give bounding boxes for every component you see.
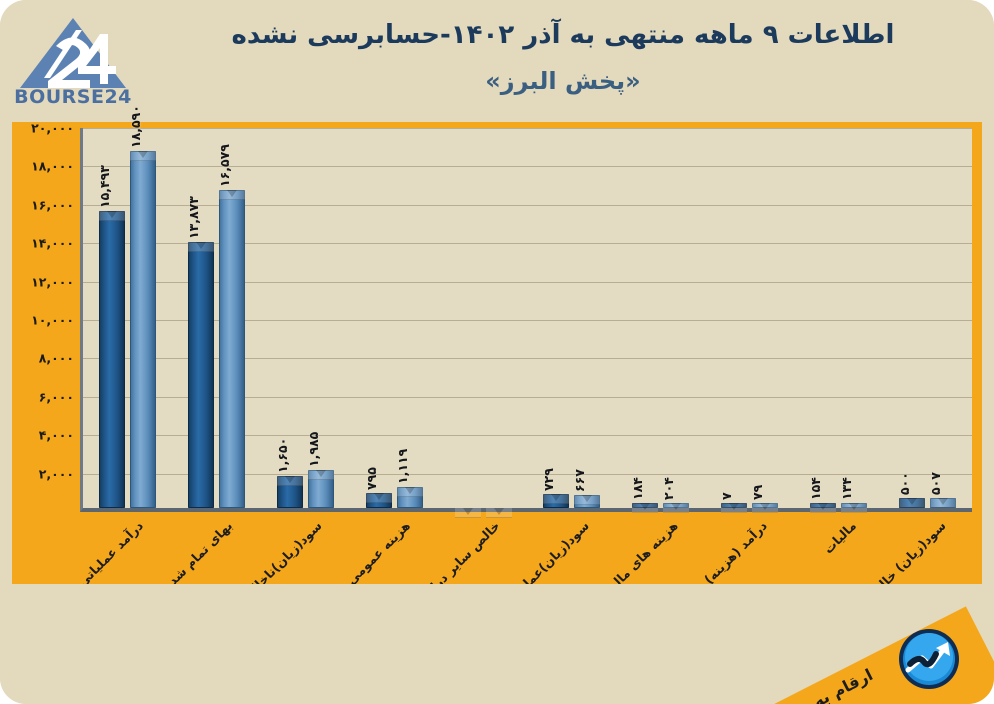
bar-value-label: ۷۲۹ [541, 468, 556, 491]
page-title: اطلاعات ۹ ماهه منتهی به آذر ۱۴۰۲-حسابرسی… [150, 18, 976, 52]
bar-column: ۱,۹۸۵ [308, 470, 334, 508]
bar-group: ۱۸۴۲۰۴ [616, 128, 705, 508]
bar-column: ۱,۶۵۰ [277, 476, 303, 508]
bar-value-label: ۲۰۴ [661, 477, 676, 500]
bar-column: ۱۶,۵۷۹ [219, 190, 245, 508]
bar-value-label: ۱۵۴ [808, 477, 823, 500]
y-axis-tick: ۱۸,۰۰۰ [12, 159, 74, 174]
bar-series-1 [721, 503, 747, 508]
y-axis-tick: ۱۲,۰۰۰ [12, 274, 74, 289]
bar-value-label: ۱۸۴ [630, 477, 645, 500]
bar-group: ۵۰۰۵۰۷ [883, 128, 972, 508]
y-axis-tick: ۲۰,۰۰۰ [12, 121, 74, 136]
bar-series-2 [663, 503, 689, 508]
bar-column: ۲۰۴ [663, 503, 689, 508]
y-axis-tick: ۶,۰۰۰ [12, 389, 74, 404]
bar-column: ۷۹ [752, 503, 778, 508]
chart-card: BOURSE24 اطلاعات ۹ ماهه منتهی به آذر ۱۴۰… [0, 0, 994, 704]
bar-series-2 [574, 495, 600, 508]
bar-value-label: ۱۵,۴۹۳ [97, 165, 112, 208]
bar-series-1 [188, 242, 214, 508]
bar-value-label: ۱۸,۵۹۰ [128, 105, 143, 148]
bar-value-label: ۱,۱۱۹ [395, 448, 410, 483]
bar-series-2 [219, 190, 245, 508]
y-axis: ۲,۰۰۰۴,۰۰۰۶,۰۰۰۸,۰۰۰۱۰,۰۰۰۱۲,۰۰۰۱۴,۰۰۰۱۶… [12, 122, 78, 512]
bar-series-2 [308, 470, 334, 508]
bar-value-label: ۱۳,۸۷۳ [186, 196, 201, 239]
bar-series-1 [810, 503, 836, 508]
bar-column: ۱۸۴ [632, 503, 658, 508]
bar-series-1 [632, 503, 658, 508]
y-axis-tick: ۱۶,۰۰۰ [12, 197, 74, 212]
bar-column: ۱۵۴ [810, 503, 836, 508]
bar-series-1 [899, 498, 925, 508]
x-axis-label: مالیات [821, 518, 860, 557]
bar-column: ۷ [721, 503, 747, 508]
y-axis-tick: ۱۴,۰۰۰ [12, 236, 74, 251]
bar-column: ۵۰۷ [930, 498, 956, 508]
title-block: اطلاعات ۹ ماهه منتهی به آذر ۱۴۰۲-حسابرسی… [150, 18, 976, 96]
bar-group: ۱۵,۴۹۳۱۸,۵۹۰ [83, 128, 172, 508]
bar-column: ۱۵,۴۹۳ [99, 211, 125, 508]
bar-series-1 [543, 494, 569, 508]
x-axis-label: درآمد عملیاتی [74, 518, 146, 590]
bar-value-label: ۷ [719, 492, 734, 500]
bar-series-2 [130, 151, 156, 508]
bar-column: ۶۶۷ [574, 495, 600, 508]
x-axis-labels: درآمد عملیاتیبهای تمام شدهسود(زیان)ناخال… [80, 514, 972, 584]
bar-group: ۷۹۵۱,۱۱۹ [350, 128, 439, 508]
bar-series-2 [752, 503, 778, 508]
bar-series-2 [397, 487, 423, 508]
bar-column: ۵۰۰ [899, 498, 925, 508]
y-axis-tick: ۲,۰۰۰ [12, 466, 74, 481]
bourse24-logo-text: BOURSE24 [14, 86, 132, 108]
bar-series-2 [930, 498, 956, 508]
bar-group: ۱,۶۵۰۱,۹۸۵ [261, 128, 350, 508]
bar-group: ۱۳,۸۷۳۱۶,۵۷۹ [172, 128, 261, 508]
bar-series-2 [841, 503, 867, 508]
y-axis-tick: ۴,۰۰۰ [12, 428, 74, 443]
chart-panel: ۲,۰۰۰۴,۰۰۰۶,۰۰۰۸,۰۰۰۱۰,۰۰۰۱۲,۰۰۰۱۴,۰۰۰۱۶… [12, 122, 982, 584]
bourse24-logo: BOURSE24 [14, 14, 132, 110]
y-axis-tick: ۸,۰۰۰ [12, 351, 74, 366]
bar-value-label: ۵۰۷ [928, 472, 943, 495]
bar-series-1 [277, 476, 303, 508]
bar-column: ۱۸,۵۹۰ [130, 151, 156, 508]
bar-group: ۱۵۴۱۳۴ [794, 128, 883, 508]
x-axis-label: بهای تمام شده [160, 518, 235, 593]
bar-group: ۷۷۹ [705, 128, 794, 508]
bar-group: ۷۲۹۶۶۷ [528, 128, 617, 508]
bar-value-label: ۱,۶۵۰ [275, 438, 290, 473]
bar-value-label: ۷۹ [750, 485, 765, 500]
bar-value-label: ۶۶۷ [572, 469, 587, 492]
bar-series-1 [99, 211, 125, 508]
bar-value-label: ۱,۹۸۵ [306, 432, 321, 467]
bar-value-label: ۱۶,۵۷۹ [217, 144, 232, 187]
chart-header: BOURSE24 اطلاعات ۹ ماهه منتهی به آذر ۱۴۰… [0, 0, 994, 122]
bar-value-label: ۱۳۴ [839, 477, 854, 500]
bar-column: ۱۳۴ [841, 503, 867, 508]
y-axis-tick: ۱۰,۰۰۰ [12, 313, 74, 328]
chart-arrow-icon [898, 628, 960, 690]
bar-group [439, 128, 528, 508]
bar-column: ۷۲۹ [543, 494, 569, 508]
bar-column: ۱,۱۱۹ [397, 487, 423, 508]
bar-column: ۱۳,۸۷۳ [188, 242, 214, 508]
bar-groups: ۱۵,۴۹۳۱۸,۵۹۰۱۳,۸۷۳۱۶,۵۷۹۱,۶۵۰۱,۹۸۵۷۹۵۱,۱… [83, 128, 972, 508]
chart-footer: ارقام به میلیارد تومان [0, 584, 994, 704]
page-subtitle: «پخش البرز» [150, 66, 976, 96]
plot-area: ۱۵,۴۹۳۱۸,۵۹۰۱۳,۸۷۳۱۶,۵۷۹۱,۶۵۰۱,۹۸۵۷۹۵۱,۱… [80, 128, 972, 512]
bar-value-label: ۵۰۰ [897, 473, 912, 496]
bar-value-label: ۷۹۵ [364, 467, 379, 490]
bar-series-1 [366, 493, 392, 508]
bar-column: ۷۹۵ [366, 493, 392, 508]
